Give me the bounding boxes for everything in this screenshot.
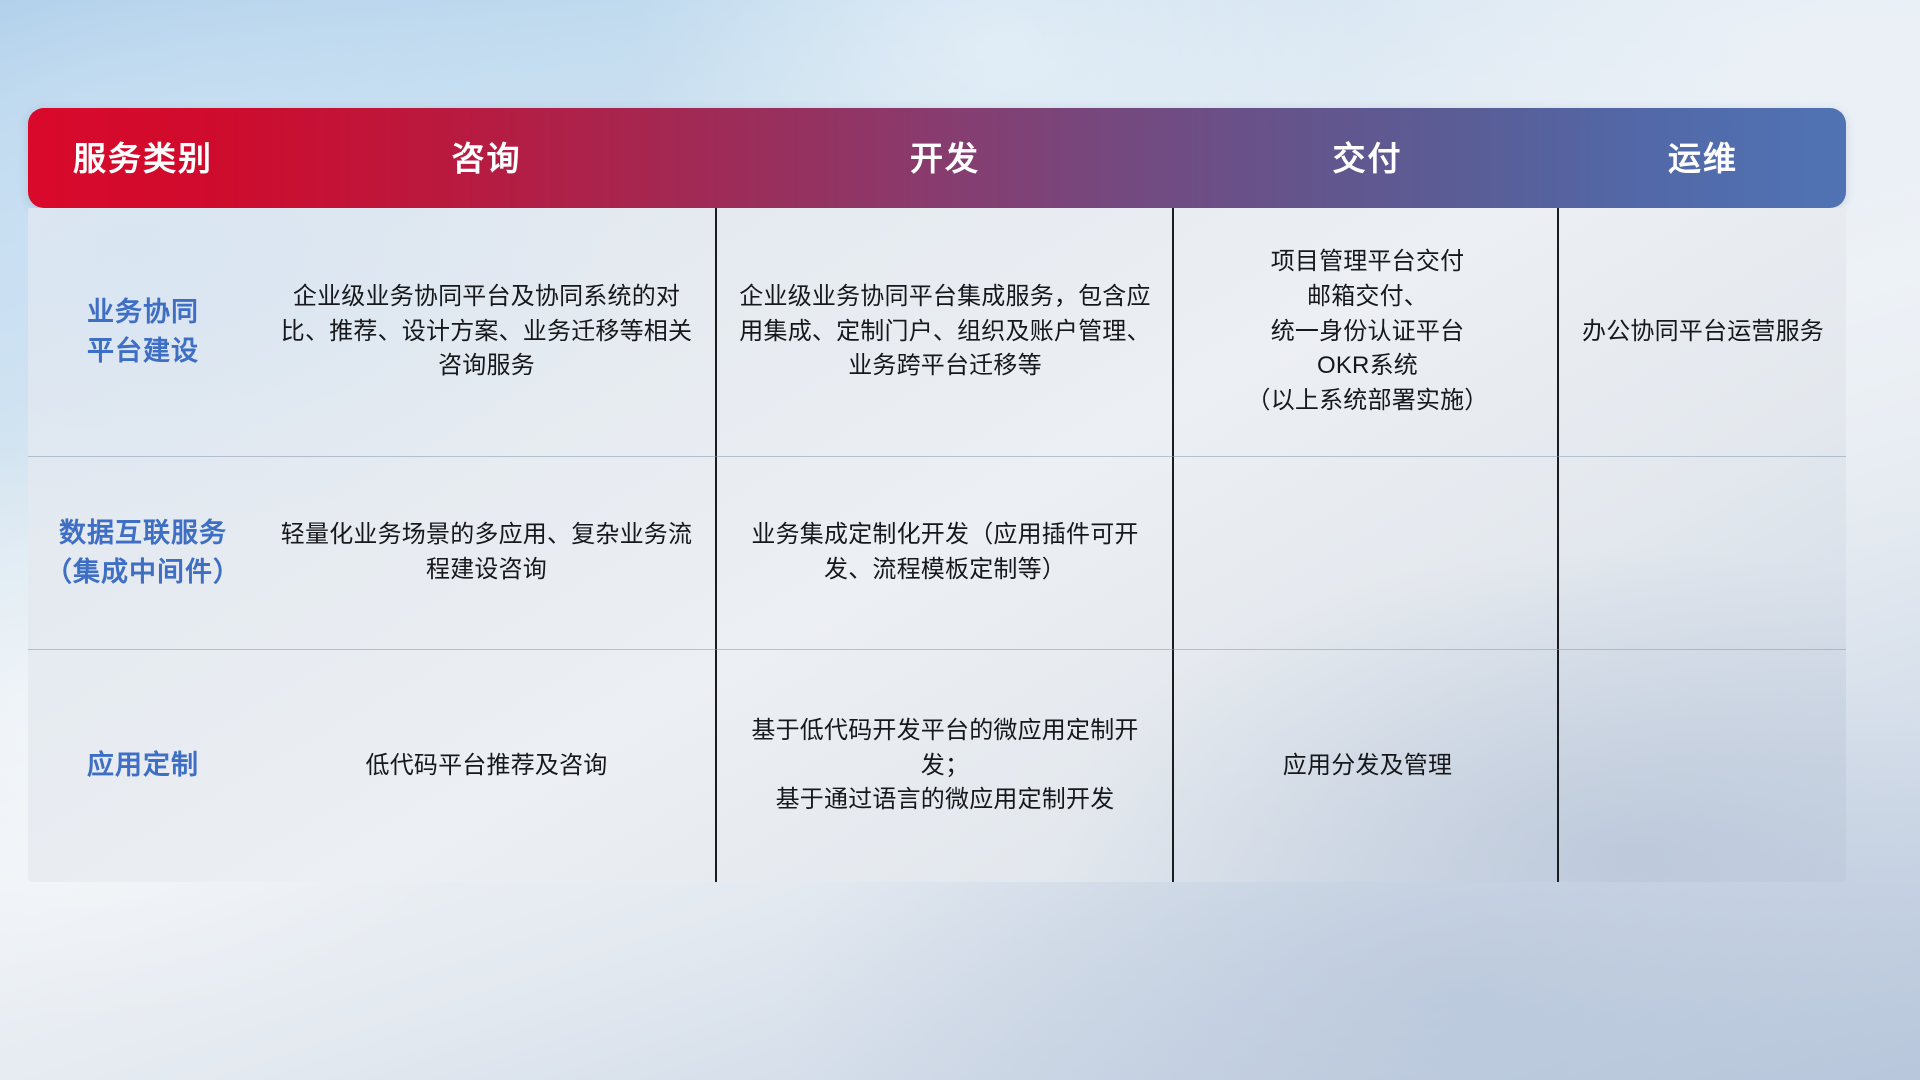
cell-delivery	[1175, 457, 1560, 649]
column-header-development: 开发	[715, 142, 1175, 175]
table-row: 业务协同 平台建设 企业级业务协同平台及协同系统的对比、推荐、设计方案、业务迁移…	[28, 208, 1846, 456]
row-category-label: 业务协同 平台建设	[28, 208, 258, 456]
cell-consulting: 企业级业务协同平台及协同系统的对比、推荐、设计方案、业务迁移等相关咨询服务	[258, 208, 715, 456]
table-body: 业务协同 平台建设 企业级业务协同平台及协同系统的对比、推荐、设计方案、业务迁移…	[28, 208, 1846, 882]
cell-delivery: 项目管理平台交付 邮箱交付、 统一身份认证平台 OKR系统 （以上系统部署实施）	[1175, 208, 1560, 456]
table-row: 应用定制 低代码平台推荐及咨询 基于低代码开发平台的微应用定制开发； 基于通过语…	[28, 649, 1846, 882]
row-category-label: 应用定制	[28, 650, 258, 882]
column-header-category: 服务类别	[28, 142, 258, 175]
table-header-row: 服务类别 咨询 开发 交付 运维	[28, 108, 1846, 208]
cell-consulting: 轻量化业务场景的多应用、复杂业务流程建设咨询	[258, 457, 715, 649]
column-header-delivery: 交付	[1175, 142, 1560, 175]
column-header-operations: 运维	[1560, 142, 1846, 175]
row-category-label: 数据互联服务 （集成中间件）	[28, 457, 258, 649]
cell-consulting: 低代码平台推荐及咨询	[258, 650, 715, 882]
cell-delivery: 应用分发及管理	[1175, 650, 1560, 882]
cell-operations: 办公协同平台运营服务	[1560, 208, 1846, 456]
table-row: 数据互联服务 （集成中间件） 轻量化业务场景的多应用、复杂业务流程建设咨询 业务…	[28, 456, 1846, 649]
column-header-consulting: 咨询	[258, 142, 715, 175]
cell-operations	[1560, 650, 1846, 882]
cell-development: 基于低代码开发平台的微应用定制开发； 基于通过语言的微应用定制开发	[715, 650, 1175, 882]
cell-development: 企业级业务协同平台集成服务，包含应用集成、定制门户、组织及账户管理、业务跨平台迁…	[715, 208, 1175, 456]
cell-operations	[1560, 457, 1846, 649]
cell-development: 业务集成定制化开发（应用插件可开发、流程模板定制等）	[715, 457, 1175, 649]
service-matrix-table: 服务类别 咨询 开发 交付 运维 业务协同 平台建设 企业级业务协同平台及协同系…	[28, 108, 1846, 780]
